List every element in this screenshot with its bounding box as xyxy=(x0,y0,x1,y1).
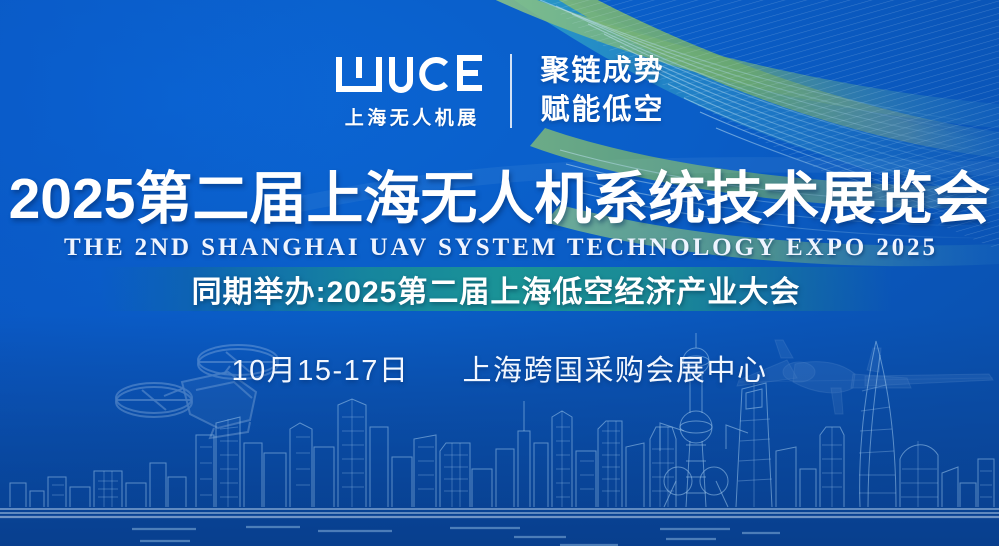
main-title-chinese: 2025第二届上海无人机系统技术展览会 xyxy=(0,170,999,228)
date-venue-line: 10月15-17日 上海跨国采购会展中心 xyxy=(0,347,999,389)
title-block: 2025第二届上海无人机系统技术展览会 THE 2ND SHANGHAI UAV… xyxy=(0,170,999,262)
event-venue: 上海跨国采购会展中心 xyxy=(463,355,768,387)
slogan-line-1: 聚链成势 xyxy=(540,53,664,90)
concurrent-event-text: 同期举办:2025第二届上海低空经济产业大会 xyxy=(192,267,801,311)
event-slogan: 聚链成势 赋能低空 xyxy=(540,53,664,128)
main-title-english: THE 2ND SHANGHAI UAV SYSTEM TECHNOLOGY E… xyxy=(0,234,999,262)
event-banner: 上海无人机展 聚链成势 赋能低空 2025第二届上海无人机系统技术展览会 THE… xyxy=(0,0,999,546)
slogan-line-2: 赋能低空 xyxy=(540,92,664,129)
event-date: 10月15-17日 xyxy=(231,355,409,387)
logo-chinese-name: 上海无人机展 xyxy=(341,103,480,130)
banner-header: 上海无人机展 聚链成势 赋能低空 xyxy=(0,52,999,130)
concurrent-event-banner: 同期举办:2025第二届上海低空经济产业大会 xyxy=(100,267,892,311)
header-divider xyxy=(510,54,512,128)
wuce-wordmark-icon xyxy=(334,52,486,96)
event-logo: 上海无人机展 xyxy=(334,52,486,130)
